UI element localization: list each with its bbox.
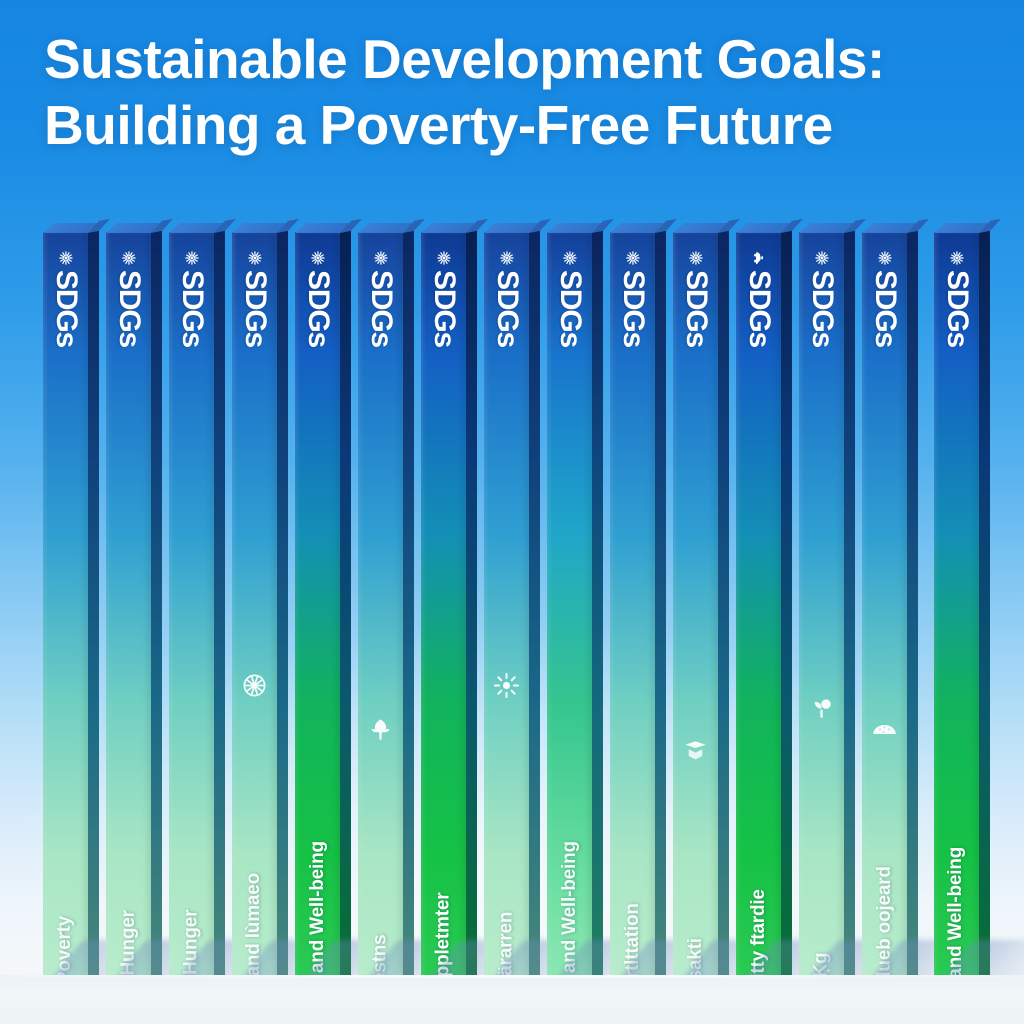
sdgs-lockup: SDGs — [799, 238, 844, 358]
sdgs-lockup: SDGs — [106, 238, 151, 358]
sdg-column-array: SDGsNo Poverty SDGsZzro Hunger SDGsZero … — [0, 0, 1024, 1024]
sdgs-lockup: SDGs — [358, 238, 403, 358]
goal-label-3: Zero Hunger — [169, 546, 214, 976]
sdg-wheel-icon — [815, 251, 829, 265]
goal-label-5: Good Health and Well-being — [295, 546, 340, 976]
sdg-wheel-icon — [311, 251, 325, 265]
sdg-column-10[interactable]: SDGsSroryrtlttation — [610, 232, 655, 990]
sdgs-lockup: SDGs — [484, 238, 529, 358]
sdg-column-2[interactable]: SDGsZzro Hunger — [106, 232, 151, 990]
sdgs-lockup: SDGs — [43, 238, 88, 358]
column-side-face — [88, 230, 99, 990]
sdgs-lockup: SDGs — [232, 238, 277, 358]
goal-label-1: No Poverty — [43, 546, 88, 976]
column-side-face — [340, 230, 351, 990]
sdg-wheel-icon — [122, 251, 136, 265]
sdgs-wordmark: SDGs — [555, 270, 585, 347]
poster-scene: Sustainable Development Goals: Building … — [0, 0, 1024, 1024]
column-side-face — [466, 230, 477, 990]
sdgs-wordmark: SDGs — [942, 270, 972, 347]
sdgs-lockup: SDGs — [421, 238, 466, 358]
sdgs-wordmark: SDGs — [240, 270, 270, 347]
column-side-face — [214, 230, 225, 990]
sdg-wheel-icon — [950, 251, 964, 265]
column-side-face — [529, 230, 540, 990]
goal-label-10: Sroryrtlttation — [610, 546, 655, 976]
column-side-face — [781, 230, 792, 990]
sdgs-wordmark: SDGs — [681, 270, 711, 347]
column-side-face — [907, 230, 918, 990]
sdg-wheel-icon — [563, 251, 577, 265]
column-side-face — [844, 230, 855, 990]
sdg-column-8[interactable]: SDGs Quinärarren — [484, 232, 529, 990]
column-side-face — [151, 230, 162, 990]
sdgs-wordmark: SDGs — [51, 270, 81, 347]
sdg-column-13[interactable]: SDGs Ķg — [799, 232, 844, 990]
sdgs-wordmark: SDGs — [492, 270, 522, 347]
sdgs-lockup: SDGs — [169, 238, 214, 358]
sdg-column-1[interactable]: SDGsNo Poverty — [43, 232, 88, 990]
column-side-face — [592, 230, 603, 990]
goal-label-text: Ķg — [811, 953, 833, 978]
sdg-column-14[interactable]: SDGs Pesaddkalueb oojeard — [862, 232, 907, 990]
column-side-face — [403, 230, 414, 990]
sdgs-wordmark: SDGs — [618, 270, 648, 347]
sdg-wheel-icon — [248, 251, 262, 265]
sdg-column-12[interactable]: SDGsSustabitty ftardie — [736, 232, 781, 990]
sdgs-wordmark: SDGs — [807, 270, 837, 347]
goal-label-6: Pestns — [358, 546, 403, 976]
sdg-wheel-icon — [437, 251, 451, 265]
sdg-column-3[interactable]: SDGsZero Hunger — [169, 232, 214, 990]
goal-label-14: Pesaddkalueb oojeard — [862, 546, 907, 976]
sdgs-lockup: SDGs — [610, 238, 655, 358]
goal-label-15: Good Healt and Well-being — [934, 546, 979, 976]
goal-label-4: Proštiopiand lùmaeo — [232, 546, 277, 976]
sdg-column-5[interactable]: SDGsGood Health and Well-being — [295, 232, 340, 990]
vehicle-icon — [752, 251, 766, 265]
goal-label-7: Seštasppletmter — [421, 546, 466, 976]
sdgs-lockup: SDGs — [862, 238, 907, 358]
sdg-column-9[interactable]: SDGsGood Health and Well-being — [547, 232, 592, 990]
sdgs-wordmark: SDGs — [744, 270, 774, 347]
sdgs-wordmark: SDGs — [870, 270, 900, 347]
goal-label-11: Ĺsakti — [673, 546, 718, 976]
sdg-column-6[interactable]: SDGs Pestns — [358, 232, 403, 990]
sdgs-lockup: SDGs — [547, 238, 592, 358]
sdg-wheel-icon — [374, 251, 388, 265]
sdgs-wordmark: SDGs — [366, 270, 396, 347]
sdgs-wordmark: SDGs — [177, 270, 207, 347]
sdgs-lockup: SDGs — [295, 238, 340, 358]
sdgs-lockup: SDGs — [673, 238, 718, 358]
goal-label-9: Good Health and Well-being — [547, 546, 592, 976]
sdg-wheel-icon — [185, 251, 199, 265]
column-side-face — [277, 230, 288, 990]
sdg-column-11[interactable]: SDGs Ĺsakti — [673, 232, 718, 990]
goal-label-12: Sustabitty ftardie — [736, 546, 781, 976]
sdgs-lockup: SDGs — [736, 238, 781, 358]
sdg-column-7[interactable]: SDGsSeštasppletmter — [421, 232, 466, 990]
sdg-wheel-icon — [59, 251, 73, 265]
sdg-column-4[interactable]: SDGs Proštiopiand lùmaeo — [232, 232, 277, 990]
sdg-wheel-icon — [500, 251, 514, 265]
sdg-column-15[interactable]: SDGsGood Healt and Well-being — [934, 232, 979, 990]
sdgs-lockup: SDGs — [934, 238, 979, 358]
goal-label-2: Zzro Hunger — [106, 546, 151, 976]
column-side-face — [718, 230, 729, 990]
ground-plane — [0, 975, 1024, 1024]
sdgs-wordmark: SDGs — [429, 270, 459, 347]
sdg-wheel-icon — [689, 251, 703, 265]
sdgs-wordmark: SDGs — [303, 270, 333, 347]
sdgs-wordmark: SDGs — [114, 270, 144, 347]
column-side-face — [655, 230, 666, 990]
sdg-wheel-icon — [626, 251, 640, 265]
goal-label-8: Quinärarren — [484, 546, 529, 976]
sdg-wheel-icon — [878, 251, 892, 265]
goal-label-13: Ķg — [799, 546, 844, 976]
column-side-face — [979, 230, 990, 990]
